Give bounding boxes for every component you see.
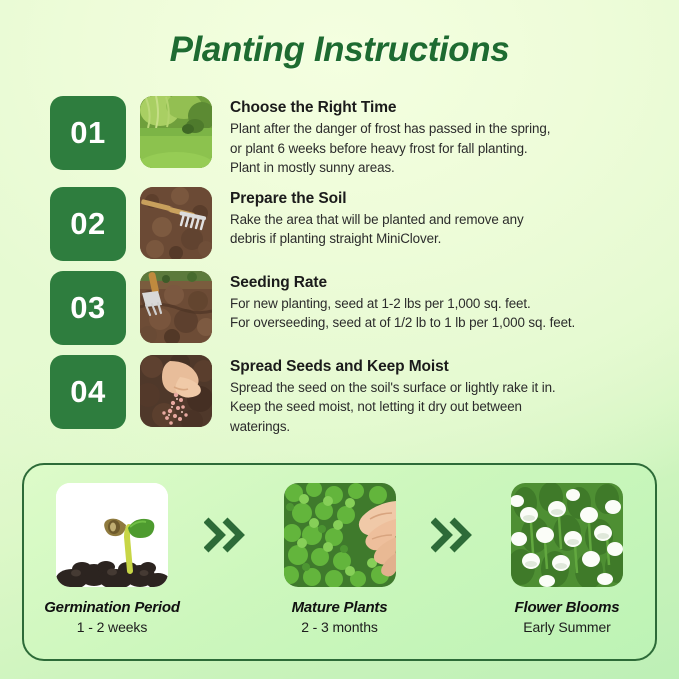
step-line: For new planting, seed at 1-2 lbs per 1,… — [230, 294, 650, 313]
step-item: 01 Choose — [50, 96, 650, 177]
timeline-stage-duration: Early Summer — [523, 619, 610, 635]
step-number-badge: 03 — [50, 271, 126, 345]
steps-list: 01 Choose — [50, 96, 650, 446]
timeline-stage: Flower Blooms Early Summer — [503, 483, 631, 635]
step-item: 04 — [50, 355, 650, 436]
timeline-stage: Mature Plants 2 - 3 months — [276, 483, 404, 635]
step-item: 02 — [50, 187, 650, 261]
step-text-block: Prepare the Soil Rake the area that will… — [230, 187, 650, 249]
infographic-page: Planting Instructions 01 — [0, 0, 679, 679]
growth-timeline-panel: Germination Period 1 - 2 weeks — [22, 463, 657, 661]
rake-on-soil-photo — [140, 187, 212, 259]
step-text-block: Spread Seeds and Keep Moist Spread the s… — [230, 355, 650, 436]
step-line: debris if planting straight MiniClover. — [230, 229, 650, 248]
step-number-badge: 01 — [50, 96, 126, 170]
double-chevron-right-icon — [200, 483, 252, 587]
step-title: Prepare the Soil — [230, 189, 650, 208]
step-number-badge: 04 — [50, 355, 126, 429]
page-title: Planting Instructions — [0, 30, 679, 70]
step-text-block: Choose the Right Time Plant after the da… — [230, 96, 650, 177]
step-line: Spread the seed on the soil's surface or… — [230, 378, 650, 397]
timeline-stage-duration: 1 - 2 weeks — [77, 619, 148, 635]
step-item: 03 — [50, 271, 650, 345]
timeline-stage-label: Mature Plants — [292, 599, 388, 616]
sprouting-seedling-photo — [56, 483, 168, 587]
hand-spreading-seed-photo — [140, 355, 212, 427]
timeline-stage: Germination Period 1 - 2 weeks — [48, 483, 176, 635]
step-line: Rake the area that will be planted and r… — [230, 210, 650, 229]
step-number-badge: 02 — [50, 187, 126, 261]
step-text-block: Seeding Rate For new planting, seed at 1… — [230, 271, 650, 333]
seeding-tool-soil-photo — [140, 271, 212, 343]
step-line: waterings. — [230, 417, 650, 436]
step-line: For overseeding, seed at of 1/2 lb to 1 … — [230, 313, 650, 332]
double-chevron-right-icon — [427, 483, 479, 587]
timeline-row: Germination Period 1 - 2 weeks — [24, 465, 655, 659]
lawn-garden-photo — [140, 96, 212, 168]
step-line: Plant in mostly sunny areas. — [230, 158, 650, 177]
step-line: Plant after the danger of frost has pass… — [230, 119, 650, 138]
timeline-stage-label: Flower Blooms — [515, 599, 620, 616]
hand-touching-clover-photo — [284, 483, 396, 587]
timeline-stage-duration: 2 - 3 months — [301, 619, 378, 635]
step-line: Keep the seed moist, not letting it dry … — [230, 397, 650, 416]
step-title: Spread Seeds and Keep Moist — [230, 357, 650, 376]
step-title: Seeding Rate — [230, 273, 650, 292]
white-clover-blooms-photo — [511, 483, 623, 587]
step-title: Choose the Right Time — [230, 98, 650, 117]
timeline-stage-label: Germination Period — [44, 599, 180, 616]
step-line: or plant 6 weeks before heavy frost for … — [230, 139, 650, 158]
